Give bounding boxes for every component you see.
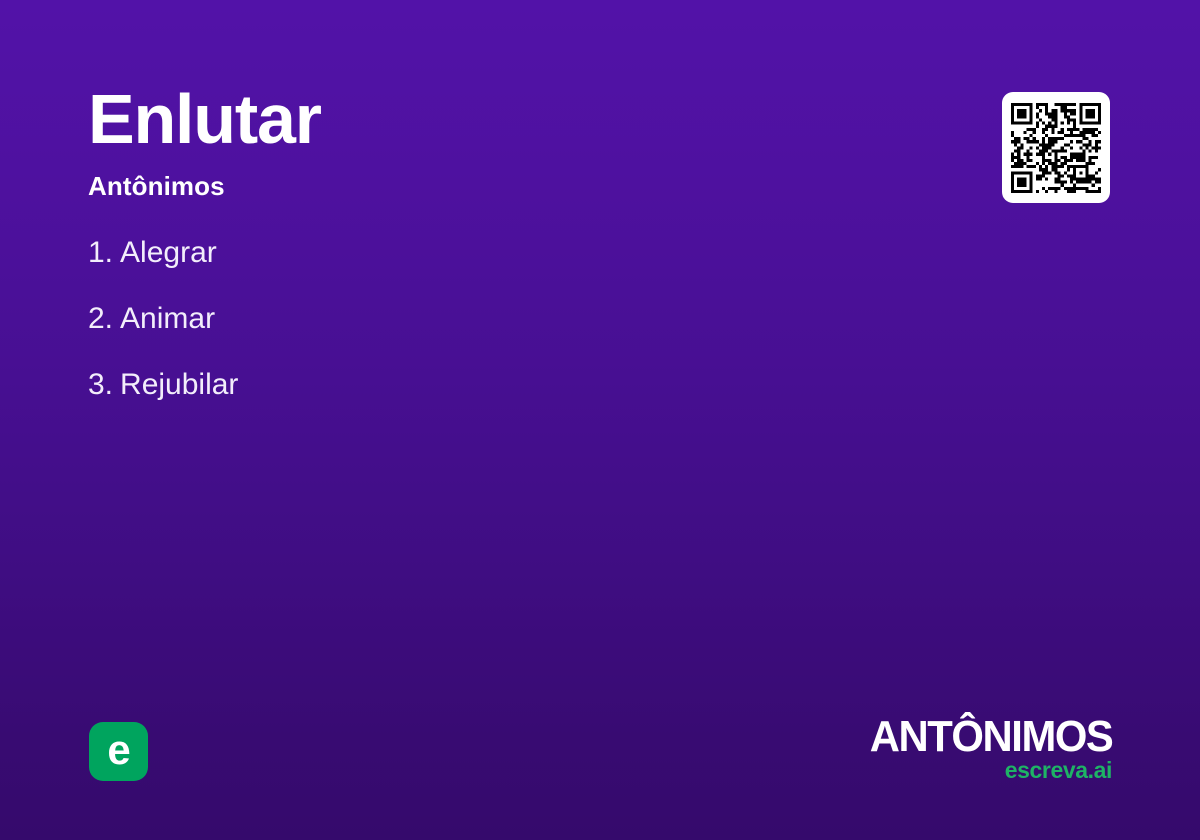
list-item-word: Animar — [120, 302, 215, 335]
list-item-number: 1. — [88, 236, 113, 269]
list-item: 1.Alegrar — [88, 238, 848, 268]
brand-name: ANTÔNIMOS — [869, 715, 1112, 758]
list-item-word: Rejubilar — [120, 368, 238, 401]
headline-block: Enlutar Antônimos — [88, 84, 808, 202]
category-label: Antônimos — [88, 171, 808, 202]
list-item: 2.Animar — [88, 304, 848, 334]
list-item-word: Alegrar — [120, 236, 217, 269]
word-card: Enlutar Antônimos 1.Alegrar 2.Animar 3.R… — [0, 0, 1200, 840]
qr-code-icon[interactable] — [1011, 103, 1101, 193]
brand-block: ANTÔNIMOS escreva.ai — [857, 715, 1112, 782]
brand-site: escreva.ai — [857, 759, 1112, 782]
antonym-list: 1.Alegrar 2.Animar 3.Rejubilar — [88, 238, 848, 436]
list-item-number: 3. — [88, 368, 113, 401]
list-item-number: 2. — [88, 302, 113, 335]
list-item: 3.Rejubilar — [88, 370, 848, 400]
qr-code-frame[interactable] — [1002, 92, 1110, 203]
app-logo-letter: e — [107, 729, 129, 771]
app-logo[interactable]: e — [89, 722, 148, 781]
page-title: Enlutar — [88, 84, 808, 154]
